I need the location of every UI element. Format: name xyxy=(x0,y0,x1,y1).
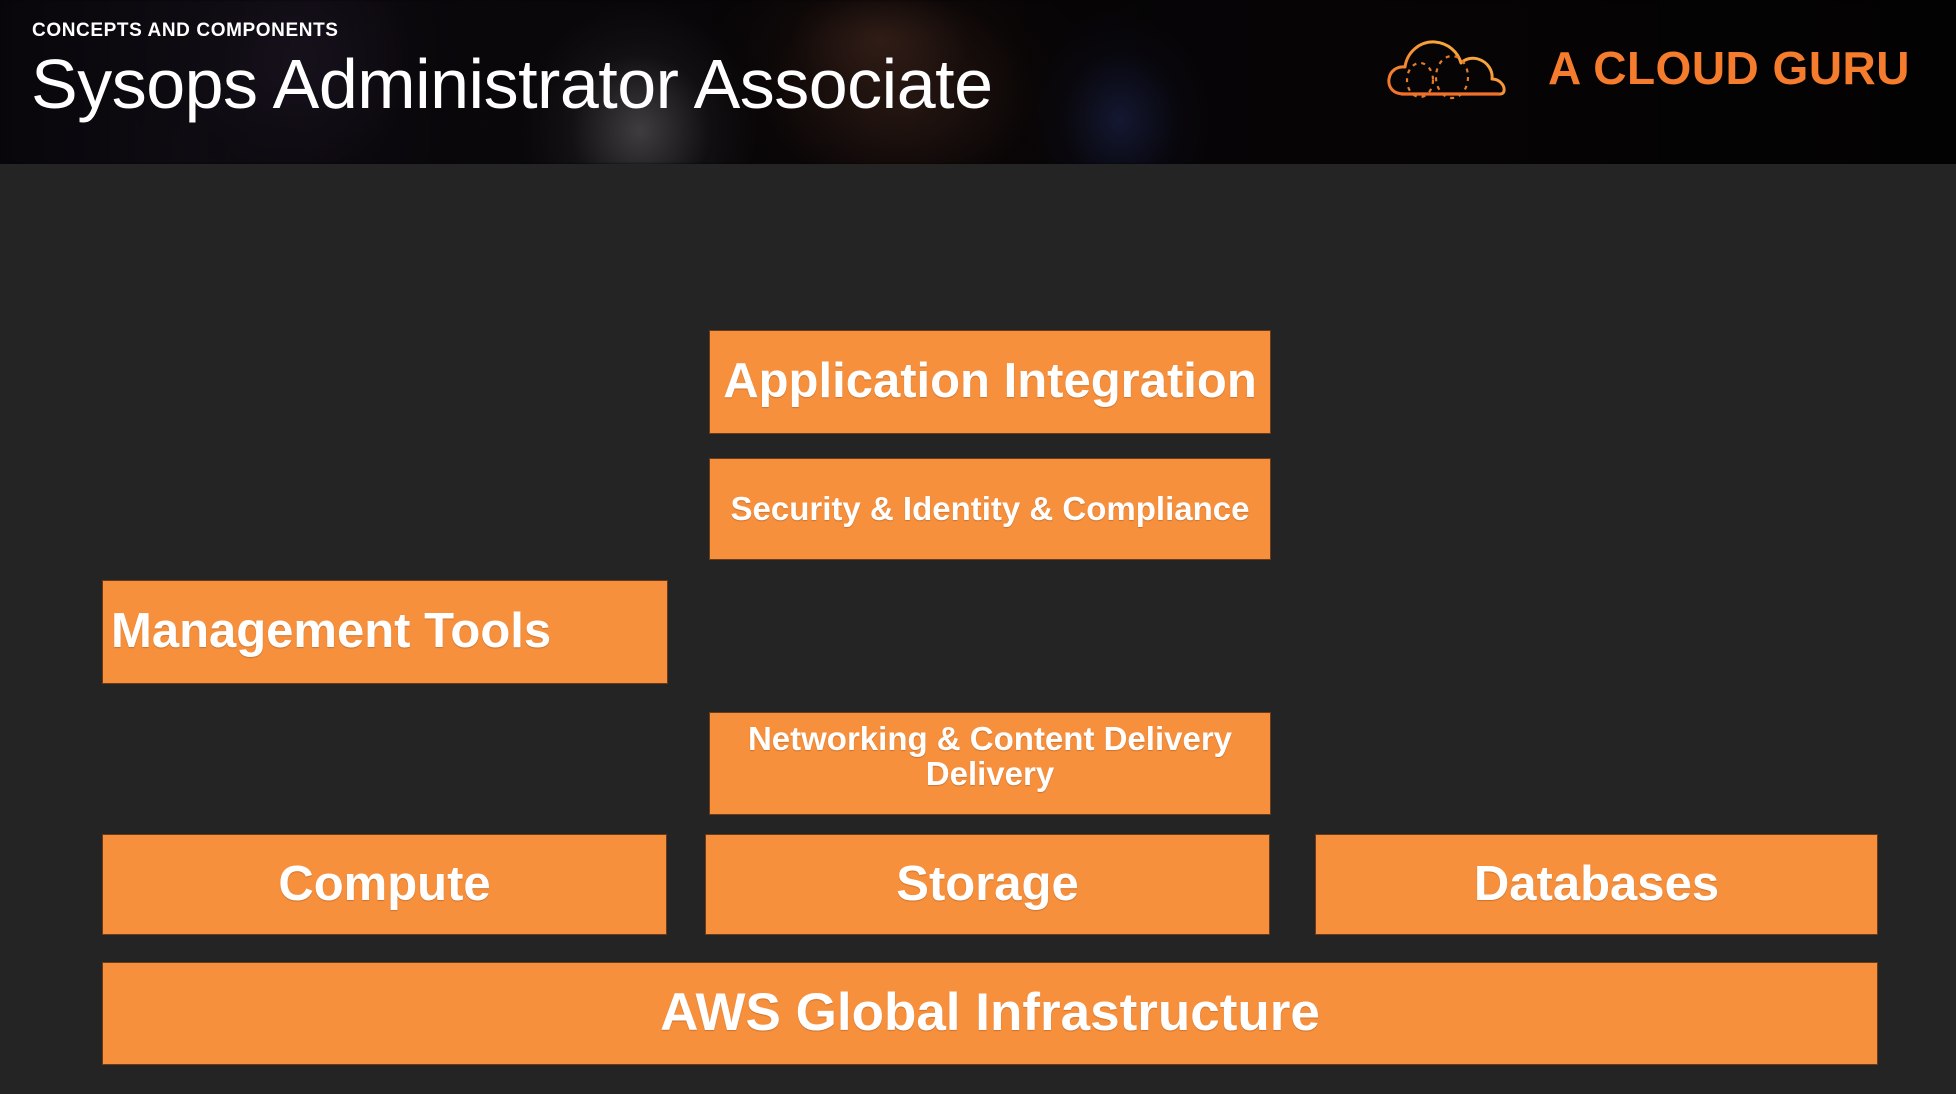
stack-box-storage: Storage xyxy=(705,834,1270,935)
stack-box-label: Compute xyxy=(268,859,500,911)
page-title: Sysops Administrator Associate xyxy=(31,48,993,122)
stack-box-management-tools: Management Tools xyxy=(102,580,668,684)
stack-box-networking-content-delivery: Networking & Content Delivery Delivery xyxy=(709,712,1271,815)
stack-box-compute: Compute xyxy=(102,834,667,935)
stack-box-label: Databases xyxy=(1464,859,1729,911)
stack-box-label: Application Integration xyxy=(713,356,1267,408)
slide-canvas: CONCEPTS AND COMPONENTS Sysops Administr… xyxy=(0,0,1956,1094)
stack-box-label: AWS Global Infrastructure xyxy=(650,985,1330,1041)
cloud-outline-icon xyxy=(1386,32,1528,104)
stack-box-label: Management Tools xyxy=(103,606,667,658)
brand-logo: A CLOUD GURU xyxy=(1386,32,1910,104)
stack-box-databases: Databases xyxy=(1315,834,1878,935)
stack-box-aws-global-infrastructure: AWS Global Infrastructure xyxy=(102,962,1878,1065)
stack-box-label: Networking & Content Delivery Delivery xyxy=(710,716,1270,792)
stack-box-label: Security & Identity & Compliance xyxy=(721,492,1260,527)
stack-box-security-identity-compliance: Security & Identity & Compliance xyxy=(709,458,1271,560)
slide-header-banner: CONCEPTS AND COMPONENTS Sysops Administr… xyxy=(0,0,1956,164)
stack-box-label: Storage xyxy=(886,859,1088,911)
header-eyebrow: CONCEPTS AND COMPONENTS xyxy=(32,20,339,42)
stack-box-application-integration: Application Integration xyxy=(709,330,1271,434)
brand-logo-text: A CLOUD GURU xyxy=(1548,41,1910,95)
